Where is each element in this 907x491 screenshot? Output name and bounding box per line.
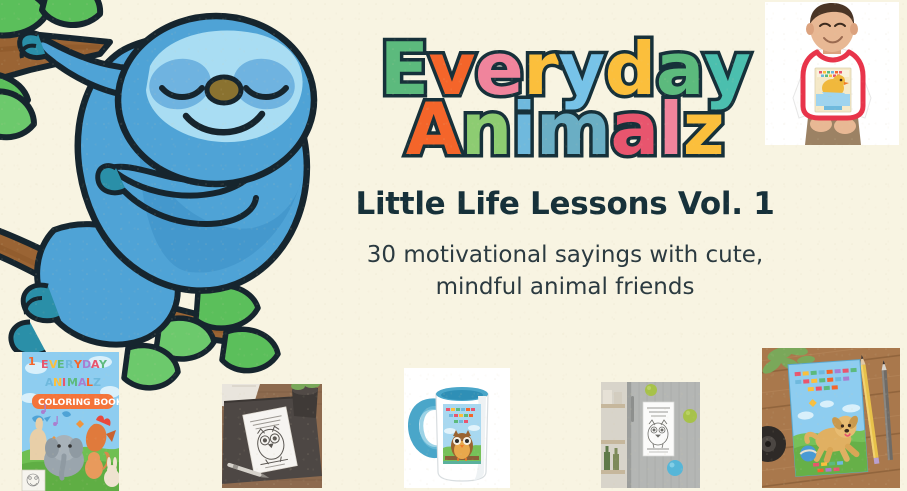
logo-animalz-letter-4: a	[611, 96, 659, 162]
series-subtitle: Little Life Lessons Vol. 1	[330, 186, 800, 222]
svg-text:1: 1	[28, 355, 36, 368]
product-photo-baby-bib[interactable]	[765, 2, 899, 145]
sloth-hero-illustration	[0, 0, 350, 392]
logo-animalz-letter-5: l	[659, 96, 683, 162]
svg-text:N: N	[53, 376, 62, 389]
product-photo-coloring-card-on-desk[interactable]	[222, 384, 322, 488]
logo-animalz-letter-1: n	[461, 96, 512, 162]
promo-banner: Everyday Animalz Little Life Lessons Vol…	[0, 0, 907, 491]
svg-text:E: E	[41, 358, 49, 371]
svg-text:COLORING BOOK: COLORING BOOK	[38, 398, 119, 408]
svg-text:E: E	[57, 358, 65, 371]
svg-text:D: D	[82, 358, 91, 371]
product-photo-owl-mug[interactable]	[404, 368, 510, 488]
title-block: Everyday Animalz Little Life Lessons Vol…	[330, 36, 800, 303]
svg-text:I: I	[62, 376, 66, 389]
svg-text:L: L	[86, 376, 93, 389]
logo-animalz-letter-6: z	[683, 96, 724, 162]
tagline: 30 motivational sayings with cute, mindf…	[330, 240, 800, 302]
logo-animalz-letter-2: i	[512, 96, 536, 162]
product-photo-dog-print-on-desk[interactable]	[762, 348, 900, 488]
product-photo-fridge-magnet-print[interactable]	[601, 382, 700, 488]
svg-text:Y: Y	[98, 358, 108, 371]
svg-text:R: R	[65, 358, 74, 371]
svg-text:M: M	[67, 376, 78, 389]
tagline-line-1: 30 motivational sayings with cute,	[330, 240, 800, 271]
sloth-head	[118, 16, 314, 184]
logo-animalz-letter-3: m	[536, 96, 611, 162]
tagline-line-2: mindful animal friends	[330, 272, 800, 303]
logo-animalz-letter-0: A	[406, 96, 461, 162]
svg-text:Z: Z	[93, 376, 101, 389]
product-photo-coloring-book-cover[interactable]: 1 EV ER YD AY AN IM AL Z COLORING BOOK	[14, 352, 119, 491]
